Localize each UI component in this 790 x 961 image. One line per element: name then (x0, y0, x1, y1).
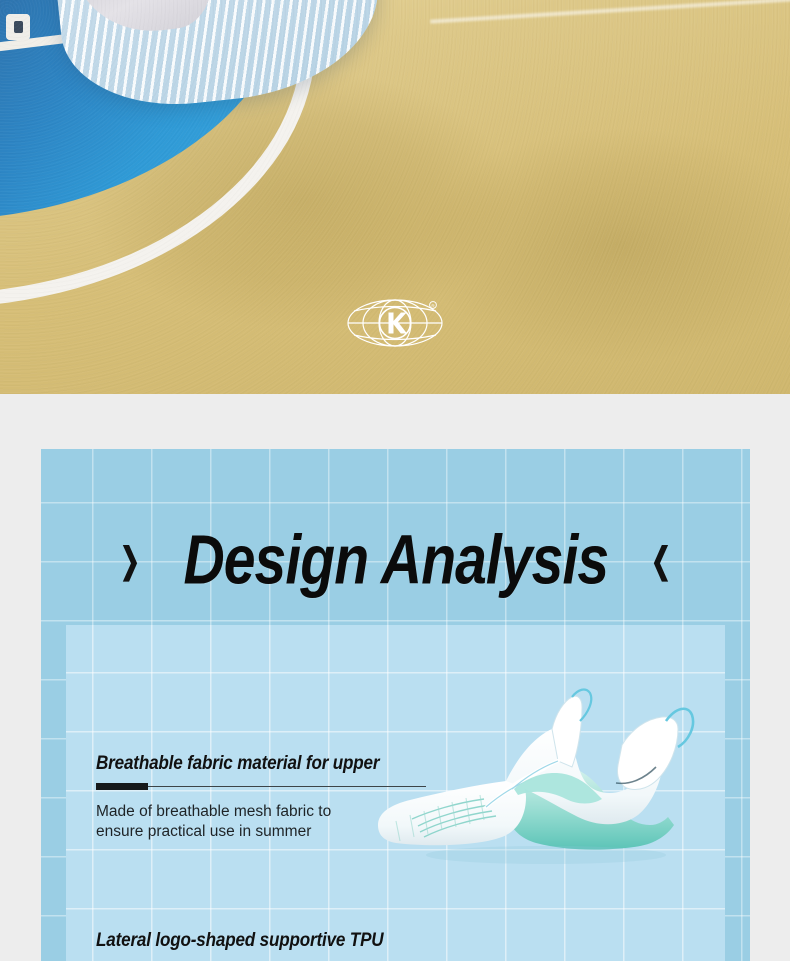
feature-divider (96, 786, 426, 787)
design-analysis-inner-card: Breathable fabric material for upper Mad… (66, 625, 725, 961)
page-title: Design Analysis (183, 520, 608, 600)
feature-block-2: Lateral logo-shaped supportive TPU (96, 930, 415, 952)
feature-title: Breathable fabric material for upper (96, 753, 393, 775)
design-analysis-title-row: ❯ Design Analysis ❮ (41, 521, 750, 599)
brand-globe-k-logo: R (345, 297, 445, 349)
chevron-right-icon: ❯ (120, 542, 140, 578)
chevron-left-icon: ❮ (651, 542, 671, 578)
product-hero-photo: R (0, 0, 790, 394)
feature-block-1: Breathable fabric material for upper Mad… (96, 753, 426, 843)
product-detail-page: R ❯ Design Analysis ❮ (0, 0, 790, 961)
design-analysis-panel: ❯ Design Analysis ❮ (41, 449, 750, 961)
feature-title: Lateral logo-shaped supportive TPU (96, 930, 383, 952)
feature-body-text: Made of breathable mesh fabric to ensure… (96, 802, 426, 843)
